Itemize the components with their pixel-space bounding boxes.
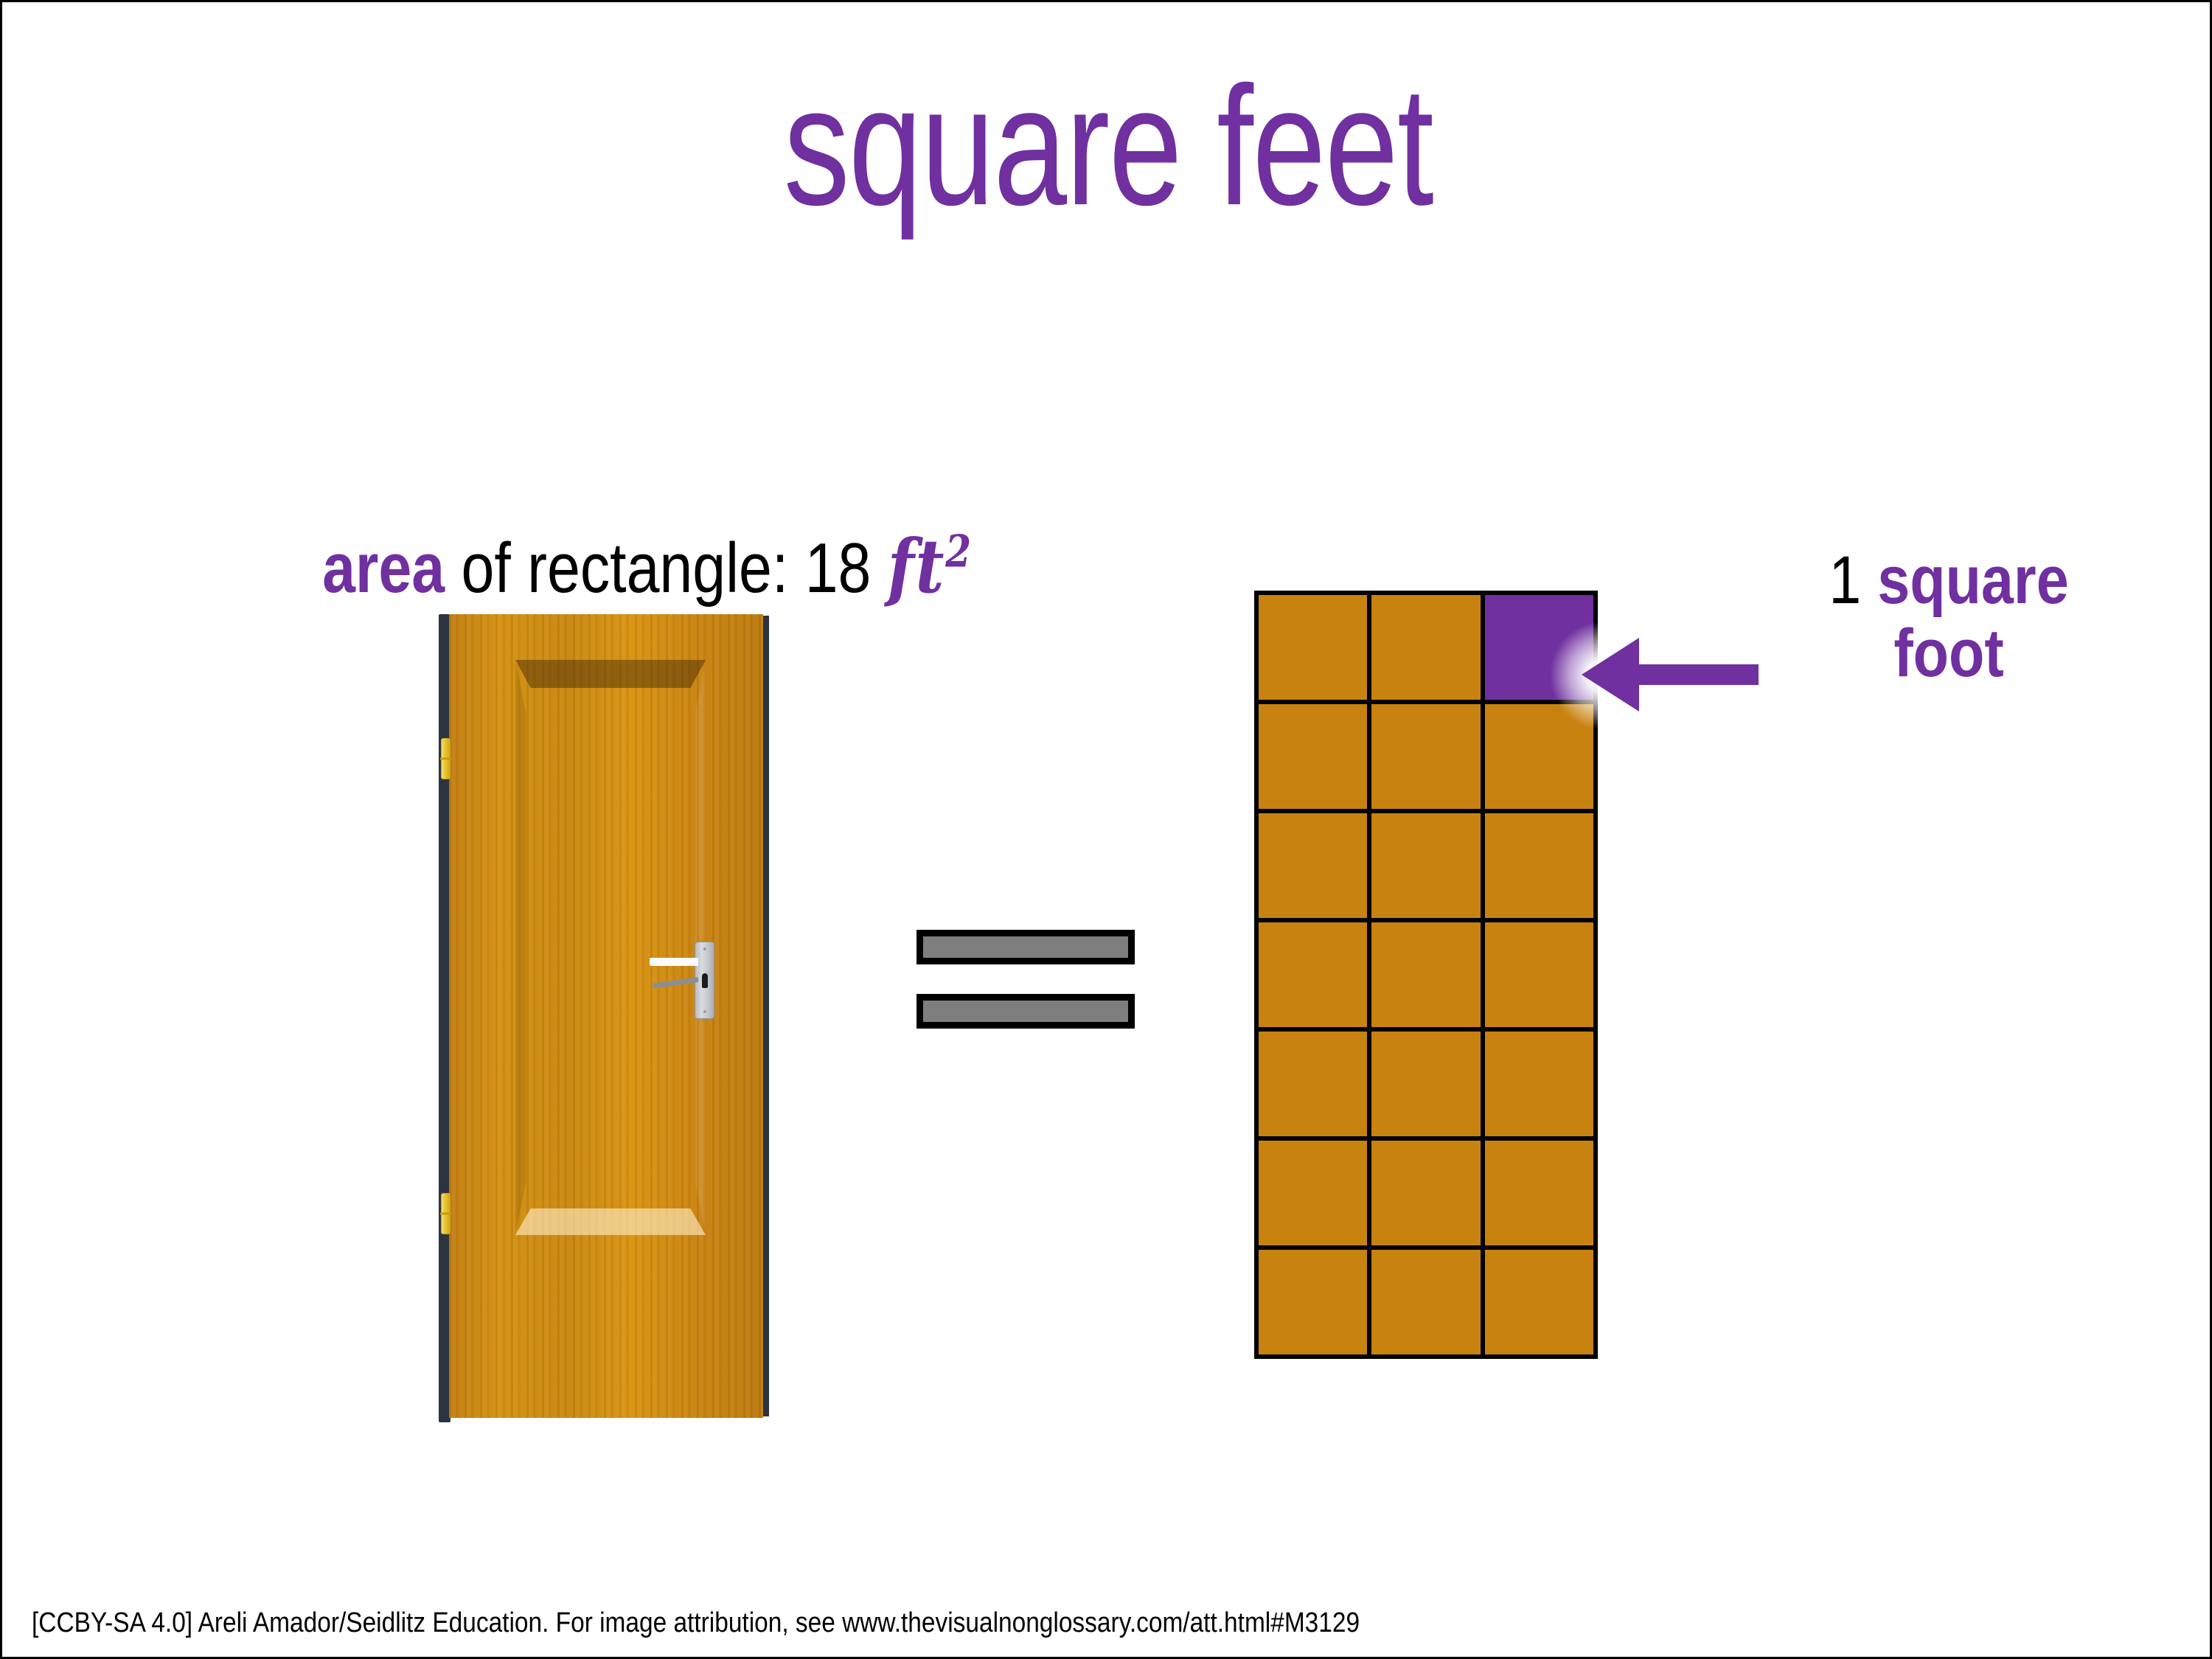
grid-cell (1259, 1032, 1367, 1136)
door-illustration (439, 614, 769, 1433)
grid-cell (1259, 813, 1367, 918)
area-caption: area of rectangle: 18 ft2 (198, 529, 1096, 604)
unit-base: ft (888, 523, 945, 610)
arrow-shaft (1633, 664, 1759, 685)
grid-cell (1259, 595, 1367, 700)
grid-cell (1371, 1032, 1480, 1136)
square-feet-grid (1254, 591, 1598, 1359)
area-keyword: area (322, 529, 445, 608)
grid-cell-highlighted (1485, 595, 1593, 700)
grid-cell (1371, 813, 1480, 918)
door-hinge-icon (441, 738, 451, 779)
grid-cell (1485, 704, 1593, 809)
attribution-footer: [CCBY-SA 4.0] Areli Amador/Seidlitz Educ… (32, 1607, 1360, 1639)
grid-cell (1485, 1032, 1593, 1136)
unit-square-feet: ft2 (888, 523, 973, 610)
equals-bar-top (917, 930, 1135, 964)
grid-cell (1371, 1250, 1480, 1354)
equals-bar-bottom (917, 994, 1135, 1029)
door-hinge-icon (441, 1193, 451, 1234)
unit-exponent: 2 (945, 526, 973, 578)
grid-cell (1371, 922, 1480, 1027)
grid-cell (1485, 1141, 1593, 1245)
slide-canvas: square feet area of rectangle: 18 ft2 (0, 0, 2212, 1659)
keyhole-icon (702, 973, 708, 988)
screw-icon (703, 947, 706, 950)
arrow-head (1582, 638, 1639, 712)
grid-cell (1371, 704, 1480, 809)
square-foot-keyword-line2: foot (1893, 616, 2003, 691)
pointer-arrow-icon (1582, 638, 1759, 712)
grid-cell (1371, 1141, 1480, 1245)
grid-cell (1485, 1250, 1593, 1354)
panel-bevel-top (515, 660, 706, 688)
grid-cell (1259, 704, 1367, 809)
screw-icon (703, 1010, 706, 1013)
grid-cell (1259, 922, 1367, 1027)
door-jamb-right-icon (762, 616, 769, 1416)
panel-bevel-bottom (515, 1208, 706, 1235)
equals-sign-icon (917, 930, 1138, 1040)
page-title: square feet (246, 61, 1971, 231)
door-slab (449, 614, 763, 1418)
door-recessed-panel (515, 660, 706, 1235)
square-foot-keyword-line1: square (1877, 543, 2068, 618)
square-foot-count: 1 (1829, 543, 1861, 618)
panel-bevel-left (515, 660, 526, 1235)
area-caption-middle: of rectangle: 18 (445, 529, 888, 608)
grid-cell (1259, 1141, 1367, 1245)
grid-cell (1259, 1250, 1367, 1354)
door-lever-handle-icon (650, 958, 698, 966)
grid-cell (1371, 595, 1480, 700)
one-square-foot-label: 1 square foot (1752, 544, 2145, 691)
grid-cell (1485, 813, 1593, 918)
grid-cell (1485, 922, 1593, 1027)
